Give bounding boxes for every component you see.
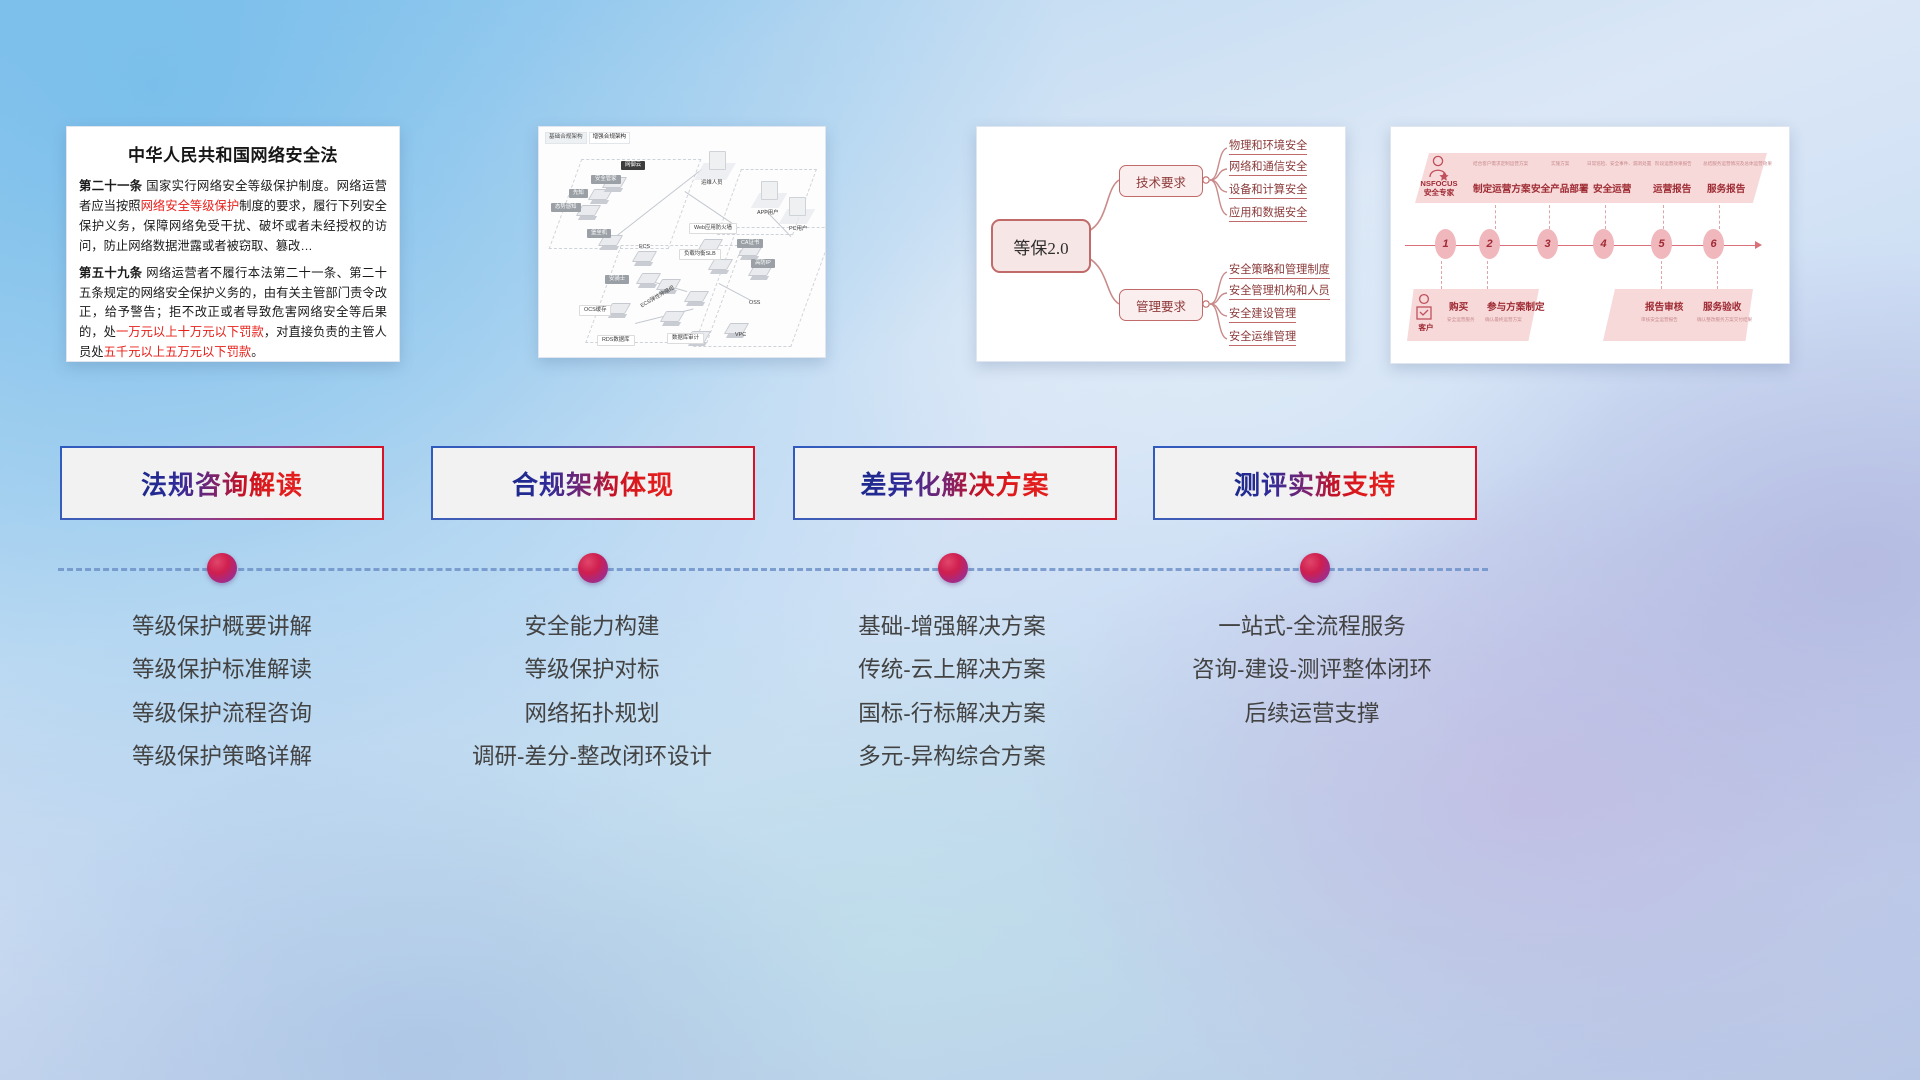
mindmap-leaf: 安全建设管理: [1229, 305, 1296, 323]
process-step-label: 安全产品部署: [1531, 181, 1589, 195]
node-stack: [635, 251, 654, 266]
headline-box-differentiated-solution[interactable]: 差异化解决方案: [795, 448, 1115, 518]
process-connector: [1661, 261, 1663, 289]
node-label-rds: RDS数据库: [597, 335, 635, 346]
process-step-label: 购买: [1449, 299, 1468, 313]
bullet-column-4: 一站式-全流程服务 咨询-建设-测评整体闭环 后续运营支撑: [1132, 605, 1492, 736]
list-item: 传统-云上解决方案: [772, 649, 1132, 693]
headline-label: 测评实施支持: [1234, 465, 1396, 502]
list-item: 基础-增强解决方案: [772, 605, 1132, 649]
node-label-ops-staff: 运维人员: [697, 179, 727, 188]
node-label-ocs-cache: OCS缓存: [579, 305, 611, 316]
node-label-slb: 负载均衡SLB: [679, 249, 721, 260]
node-stack: [711, 259, 730, 274]
process-note: 确认最终运营方案: [1485, 317, 1522, 323]
list-item: 等级保护流程咨询: [42, 692, 402, 736]
card-cloud-architecture[interactable]: 基础合规架构 增强合规架构: [538, 126, 826, 358]
node-stack: [609, 303, 628, 318]
process-note: 审核安全运营报告: [1641, 317, 1678, 323]
headline-label: 差异化解决方案: [860, 465, 1049, 502]
node-label-oss: OSS: [745, 299, 764, 308]
list-item: 等级保护对标: [412, 649, 772, 693]
process-connector: [1605, 205, 1607, 229]
process-step-5[interactable]: 5: [1651, 229, 1672, 259]
process-connector: [1717, 261, 1719, 289]
list-item: 等级保护概要讲解: [42, 605, 402, 649]
provider-brand: NSFOCUS 安全专家: [1419, 179, 1459, 198]
process-note: 总结服务运营情况及总体运营效果: [1703, 161, 1772, 167]
article-number: 第五十九条: [79, 266, 142, 280]
process-step-label: 运营报告: [1653, 181, 1691, 195]
article-number: 第二十一条: [79, 179, 142, 193]
list-item: 咨询-建设-测评整体闭环: [1132, 649, 1492, 693]
node-label-situational-awareness: 态势感知: [551, 203, 581, 212]
article-body-end: 。: [251, 345, 263, 359]
article-highlight: 网络安全等级保护: [141, 199, 240, 213]
process-step-3[interactable]: 3: [1537, 229, 1558, 259]
mindmap-leaf: 设备和计算安全: [1229, 181, 1307, 199]
node-label-db-audit: 数据库审计: [667, 333, 704, 344]
mindmap-leaf: 应用和数据安全: [1229, 204, 1307, 222]
band-customer-right: [1603, 289, 1753, 341]
law-article-59: 第五十九条 网络运营者不履行本法第二十一条、第二十五条规定的网络安全保护义务的，…: [79, 264, 387, 362]
node-label-waf: Web应用防火墙: [689, 223, 737, 234]
process-note: 实施方案: [1551, 161, 1569, 167]
law-title: 中华人民共和国网络安全法: [79, 141, 387, 166]
process-step-4[interactable]: 4: [1593, 229, 1614, 259]
list-item: 后续运营支撑: [1132, 692, 1492, 736]
process-axis-arrow-icon: [1755, 241, 1762, 249]
mindmap-root[interactable]: 等保2.0: [991, 219, 1091, 273]
card-row: 中华人民共和国网络安全法 第二十一条 国家实行网络安全等级保护制度。网络运营者应…: [0, 126, 1920, 371]
provider-brand-name: NSFOCUS: [1420, 179, 1457, 188]
timeline-dot-1[interactable]: [207, 553, 237, 583]
node-stack: [639, 273, 658, 288]
process-step-6[interactable]: 6: [1703, 229, 1724, 259]
node-label-cloud-shield: 网御云: [621, 161, 645, 170]
article-highlight: 一万元以上十万元以下罚款: [116, 325, 264, 339]
timeline-dot-3[interactable]: [938, 553, 968, 583]
node-stack: [663, 311, 682, 326]
architecture-diagram: 网御云 安全管家 先知 态势感知 堡垒机 安骑士 ECS OCS缓存 RDS数据…: [539, 127, 825, 357]
node-label-bastion-host: 堡垒机: [587, 229, 611, 238]
timeline-dashed-line: [58, 568, 1488, 571]
process-connector: [1487, 261, 1489, 289]
process-note: 阶段运营效果报告: [1655, 161, 1692, 167]
node-label-anti-ddos-ip: 高防IP: [751, 259, 775, 268]
mindmap-branch-technical[interactable]: 技术要求: [1119, 165, 1203, 197]
node-label-pc-user: PC用户: [785, 225, 811, 234]
process-connector: [1549, 205, 1551, 229]
node-label-app-user: APP用户: [753, 209, 783, 218]
law-article-21: 第二十一条 国家实行网络安全等级保护制度。网络运营者应当按照网络安全等级保护制度…: [79, 177, 387, 257]
list-item: 网络拓扑规划: [412, 692, 772, 736]
headline-box-regulation-consulting[interactable]: 法规咨询解读: [62, 448, 382, 518]
process-note: 日常巡检、安全事件、漏洞处置: [1587, 161, 1651, 167]
headline-box-compliance-architecture[interactable]: 合规架构体现: [433, 448, 753, 518]
process-step-label: 制定运营方案: [1473, 181, 1531, 195]
node-stack: [687, 291, 706, 306]
mindmap-leaf: 安全策略和管理制度: [1229, 261, 1330, 279]
process-connector: [1719, 205, 1721, 229]
article-highlight-2: 五千元以上五万元以下罚款: [104, 345, 252, 359]
list-item: 多元-异构综合方案: [772, 736, 1132, 780]
mindmap-branch-management[interactable]: 管理要求: [1119, 289, 1203, 321]
bullet-column-2: 安全能力构建 等级保护对标 网络拓扑规划 调研-差分-整改闭环设计: [412, 605, 772, 779]
headline-box-evaluation-support[interactable]: 测评实施支持: [1155, 448, 1475, 518]
process-note: 结合客户需求定制运营方案: [1473, 161, 1528, 167]
list-item: 安全能力构建: [412, 605, 772, 649]
list-item: 等级保护策略详解: [42, 736, 402, 780]
bullet-column-1: 等级保护概要讲解 等级保护标准解读 等级保护流程咨询 等级保护策略详解: [42, 605, 402, 779]
node-label-ca-cert: CA证书: [737, 239, 763, 248]
process-connector: [1495, 205, 1497, 229]
process-step-label: 参与方案制定: [1487, 299, 1545, 313]
list-item: 国标-行标解决方案: [772, 692, 1132, 736]
server-icon: [789, 197, 806, 216]
mindmap-leaf: 安全管理机构和人员: [1229, 282, 1330, 300]
server-icon: [709, 151, 726, 170]
customer-label: 客户: [1409, 323, 1443, 332]
process-step-label: 报告审核: [1645, 299, 1683, 313]
process-step-2[interactable]: 2: [1479, 229, 1500, 259]
process-connector: [1663, 205, 1665, 229]
node-label-vpc: VPC: [731, 331, 750, 340]
mindmap-leaf: 物理和环境安全: [1229, 137, 1307, 155]
card-service-process[interactable]: NSFOCUS 安全专家 客户 结合客户需求定制运营方案 实施方案 日常巡检、安…: [1390, 126, 1790, 364]
bullet-column-3: 基础-增强解决方案 传统-云上解决方案 国标-行标解决方案 多元-异构综合方案: [772, 605, 1132, 779]
customer-person-icon: [1413, 293, 1437, 321]
mindmap-leaf: 安全运维管理: [1229, 328, 1296, 346]
node-label-anqishi: 安骑士: [605, 275, 629, 284]
list-item: 一站式-全流程服务: [1132, 605, 1492, 649]
list-item: 等级保护标准解读: [42, 649, 402, 693]
node-label-security-steward: 安全管家: [591, 175, 621, 184]
card-mindmap-dengbao[interactable]: 等保2.0 技术要求 管理要求 物理和环境安全 网络和通信安全 设备和计算安全 …: [976, 126, 1346, 362]
mindmap-leaf: 网络和通信安全: [1229, 158, 1307, 176]
process-step-label: 服务报告: [1707, 181, 1745, 195]
list-item: 调研-差分-整改闭环设计: [412, 736, 772, 780]
server-icon: [761, 181, 778, 200]
process-note: 确认整改服务方案交付结果: [1697, 317, 1752, 323]
timeline-dot-4[interactable]: [1300, 553, 1330, 583]
process-step-1[interactable]: 1: [1435, 229, 1456, 259]
node-label-ecs: ECS: [635, 243, 654, 252]
headline-label: 法规咨询解读: [141, 465, 303, 502]
card-cybersecurity-law[interactable]: 中华人民共和国网络安全法 第二十一条 国家实行网络安全等级保护制度。网络运营者应…: [66, 126, 400, 362]
process-step-label: 安全运营: [1593, 181, 1631, 195]
node-stack: [579, 205, 598, 220]
provider-brand-sub: 安全专家: [1424, 188, 1454, 197]
process-note: 安全运营服务: [1447, 317, 1475, 323]
headline-label: 合规架构体现: [512, 465, 674, 502]
timeline-dot-2[interactable]: [578, 553, 608, 583]
node-label-xianzhi: 先知: [569, 189, 588, 198]
process-connector: [1441, 261, 1443, 289]
process-step-label: 服务验收: [1703, 299, 1741, 313]
